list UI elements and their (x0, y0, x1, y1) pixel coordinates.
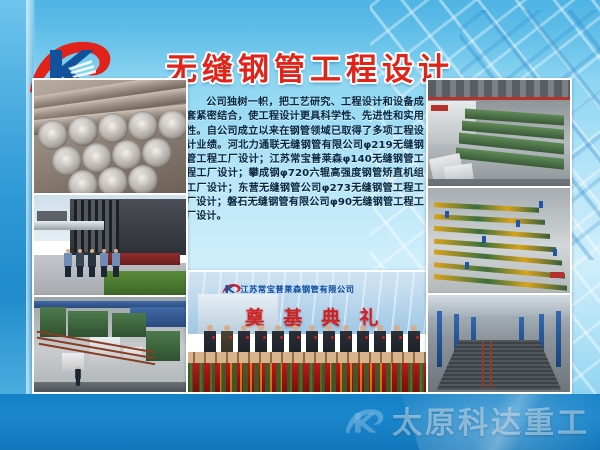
ceremony-red-carpet-flowers (188, 361, 426, 392)
photo-equipment-yard (426, 186, 572, 295)
photo-steel-pipes (32, 78, 188, 195)
bottom-blue-band (0, 394, 600, 450)
description-paragraph: 公司独树一帜，把工艺研究、工程设计和设备成套紧密结合，使工程设计更具科学性、先进… (186, 96, 424, 225)
photo-groundbreaking-ceremony: 江苏常宝普莱森钢管有限公司 奠 基 典 礼 (186, 270, 428, 394)
photo-assembly-workshop (426, 78, 572, 188)
poster-root: 无缝钢管工程设计 公司独树一帜，把工艺研究、工程设计和设备成套紧密结合，使工程设… (0, 0, 600, 450)
photo-production-line (32, 295, 188, 394)
description-text-block: 公司独树一帜，把工艺研究、工程设计和设备成套紧密结合，使工程设计更具科学性、先进… (186, 96, 424, 266)
photo-factory-gate (32, 193, 188, 297)
photo-steel-structure-hall (426, 293, 572, 394)
ceremony-banner-text: 江苏常宝普莱森钢管有限公司 (240, 280, 411, 297)
ceremony-flower-pots (188, 352, 426, 363)
